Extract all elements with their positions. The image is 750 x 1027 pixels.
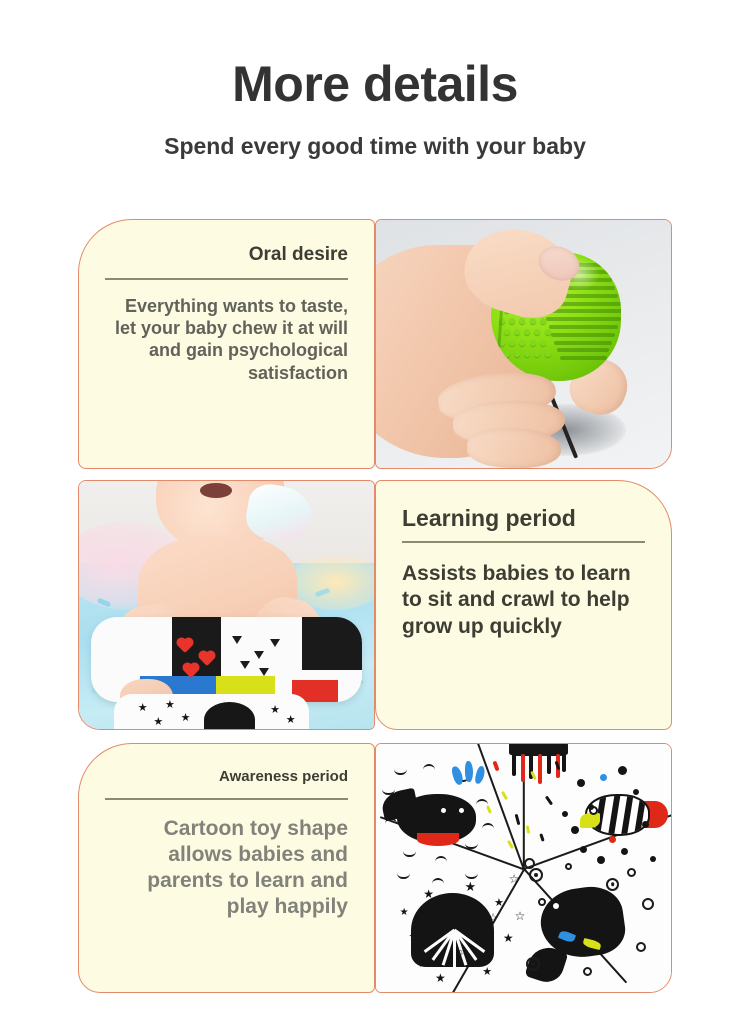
- dot-5: [597, 856, 605, 864]
- bubble-6: [583, 967, 592, 976]
- product-detail-page: More details Spend every good time with …: [0, 0, 750, 1027]
- dot-11: [650, 856, 656, 862]
- pillow-triangle-3: [270, 639, 280, 647]
- feature-body-awareness-period: Cartoon toy shape allows babies and pare…: [105, 816, 348, 920]
- dolphin-eye: [553, 903, 559, 909]
- feature-photo-sea-creature-cloth: ★★★★★★★★☆☆☆☆☆☆: [375, 743, 672, 993]
- pillow-star-2: ★: [181, 713, 191, 724]
- wave-13: [432, 878, 444, 884]
- star-filled-1: ★: [494, 898, 504, 909]
- feature-body-oral-desire: Everything wants to taste, let your baby…: [105, 295, 348, 384]
- whale-mouth: [417, 833, 458, 845]
- star-outline-3: ☆: [488, 913, 498, 924]
- dot-9: [588, 804, 594, 810]
- star-outline-0: ☆: [450, 908, 462, 921]
- feature-heading-learning-period: Learning period: [402, 505, 645, 531]
- star-filled-0: ★: [465, 880, 477, 893]
- pillow-star-4: ★: [286, 715, 296, 726]
- heading-divider: [402, 541, 645, 543]
- bubble-2: [642, 898, 654, 910]
- dot-10: [633, 789, 639, 795]
- star-outline-2: ☆: [417, 957, 428, 969]
- page-header: More details Spend every good time with …: [0, 0, 750, 160]
- star-filled-3: ★: [503, 932, 514, 944]
- pillow-triangle-2: [240, 661, 250, 669]
- fish-stripe-2: [607, 794, 621, 836]
- star-filled-2: ★: [423, 888, 434, 900]
- pillow-triangle-1: [254, 651, 264, 659]
- feature-body-learning-period: Assists babies to learn to sit and crawl…: [402, 561, 645, 639]
- pillow-black-panel-right: [302, 617, 362, 669]
- fish-stripe-3: [620, 794, 634, 836]
- bubble-5: [636, 942, 646, 952]
- pillow-fan-print: [204, 702, 255, 729]
- page-subtitle: Spend every good time with your baby: [0, 133, 750, 160]
- star-filled-7: ★: [400, 908, 409, 918]
- dot-0: [577, 779, 585, 787]
- pillow-front-roll: ★★★★★★: [114, 694, 309, 729]
- dot-12: [562, 811, 568, 817]
- bubble-3: [565, 863, 572, 870]
- feature-heading-awareness-period: Awareness period: [105, 768, 348, 785]
- jellyfish-tentacle-3: [538, 754, 542, 784]
- feature-photo-teether-squeeze: [375, 219, 672, 469]
- heading-divider: [105, 278, 348, 280]
- star-outline-5: ☆: [515, 910, 526, 922]
- feature-card-awareness-period: Awareness period Cartoon toy shape allow…: [78, 743, 375, 993]
- star-filled-4: ★: [408, 932, 418, 943]
- dot-6: [621, 848, 628, 855]
- jellyfish-tentacle-6: [562, 754, 566, 772]
- star-filled-6: ★: [482, 967, 492, 978]
- jellyfish-tentacle-0: [512, 754, 516, 776]
- star-outline-1: ☆: [509, 873, 520, 885]
- pillow-star-5: ★: [153, 717, 163, 728]
- bubble-4: [538, 898, 546, 906]
- dot-2: [600, 774, 607, 781]
- feature-row-learning-period: ★★★★★★ Learning period Assists babies to…: [78, 480, 672, 730]
- star-outline-4: ☆: [459, 947, 469, 958]
- pillow-star-1: ★: [165, 700, 175, 711]
- dot-3: [571, 826, 579, 834]
- star-filled-5: ★: [435, 972, 446, 984]
- whale-spout-mid: [465, 761, 473, 782]
- feature-heading-oral-desire: Oral desire: [105, 244, 348, 266]
- dot-8: [642, 821, 649, 828]
- feature-photo-baby-pillow: ★★★★★★: [78, 480, 375, 730]
- feature-card-oral-desire: Oral desire Everything wants to taste, l…: [78, 219, 375, 469]
- heading-divider: [105, 798, 348, 800]
- jellyfish-tentacle-4: [547, 754, 551, 774]
- feature-row-awareness-period: Awareness period Cartoon toy shape allow…: [78, 743, 672, 993]
- page-title: More details: [0, 58, 750, 111]
- feature-card-learning-period: Learning period Assists babies to learn …: [375, 480, 672, 730]
- dot-4: [580, 846, 587, 853]
- jellyfish-tentacle-1: [521, 754, 525, 782]
- bubble-eye-2: [606, 878, 619, 891]
- pillow-star-0: ★: [138, 703, 148, 714]
- wave-4: [403, 851, 416, 857]
- pillow-star-3: ★: [270, 705, 280, 716]
- feature-row-oral-desire: Oral desire Everything wants to taste, l…: [78, 219, 672, 469]
- dot-7: [609, 836, 616, 843]
- wave-11: [482, 823, 494, 829]
- pillow-triangle-0: [232, 636, 242, 644]
- pillow-triangle-4: [259, 668, 269, 676]
- bubble-1: [627, 868, 636, 877]
